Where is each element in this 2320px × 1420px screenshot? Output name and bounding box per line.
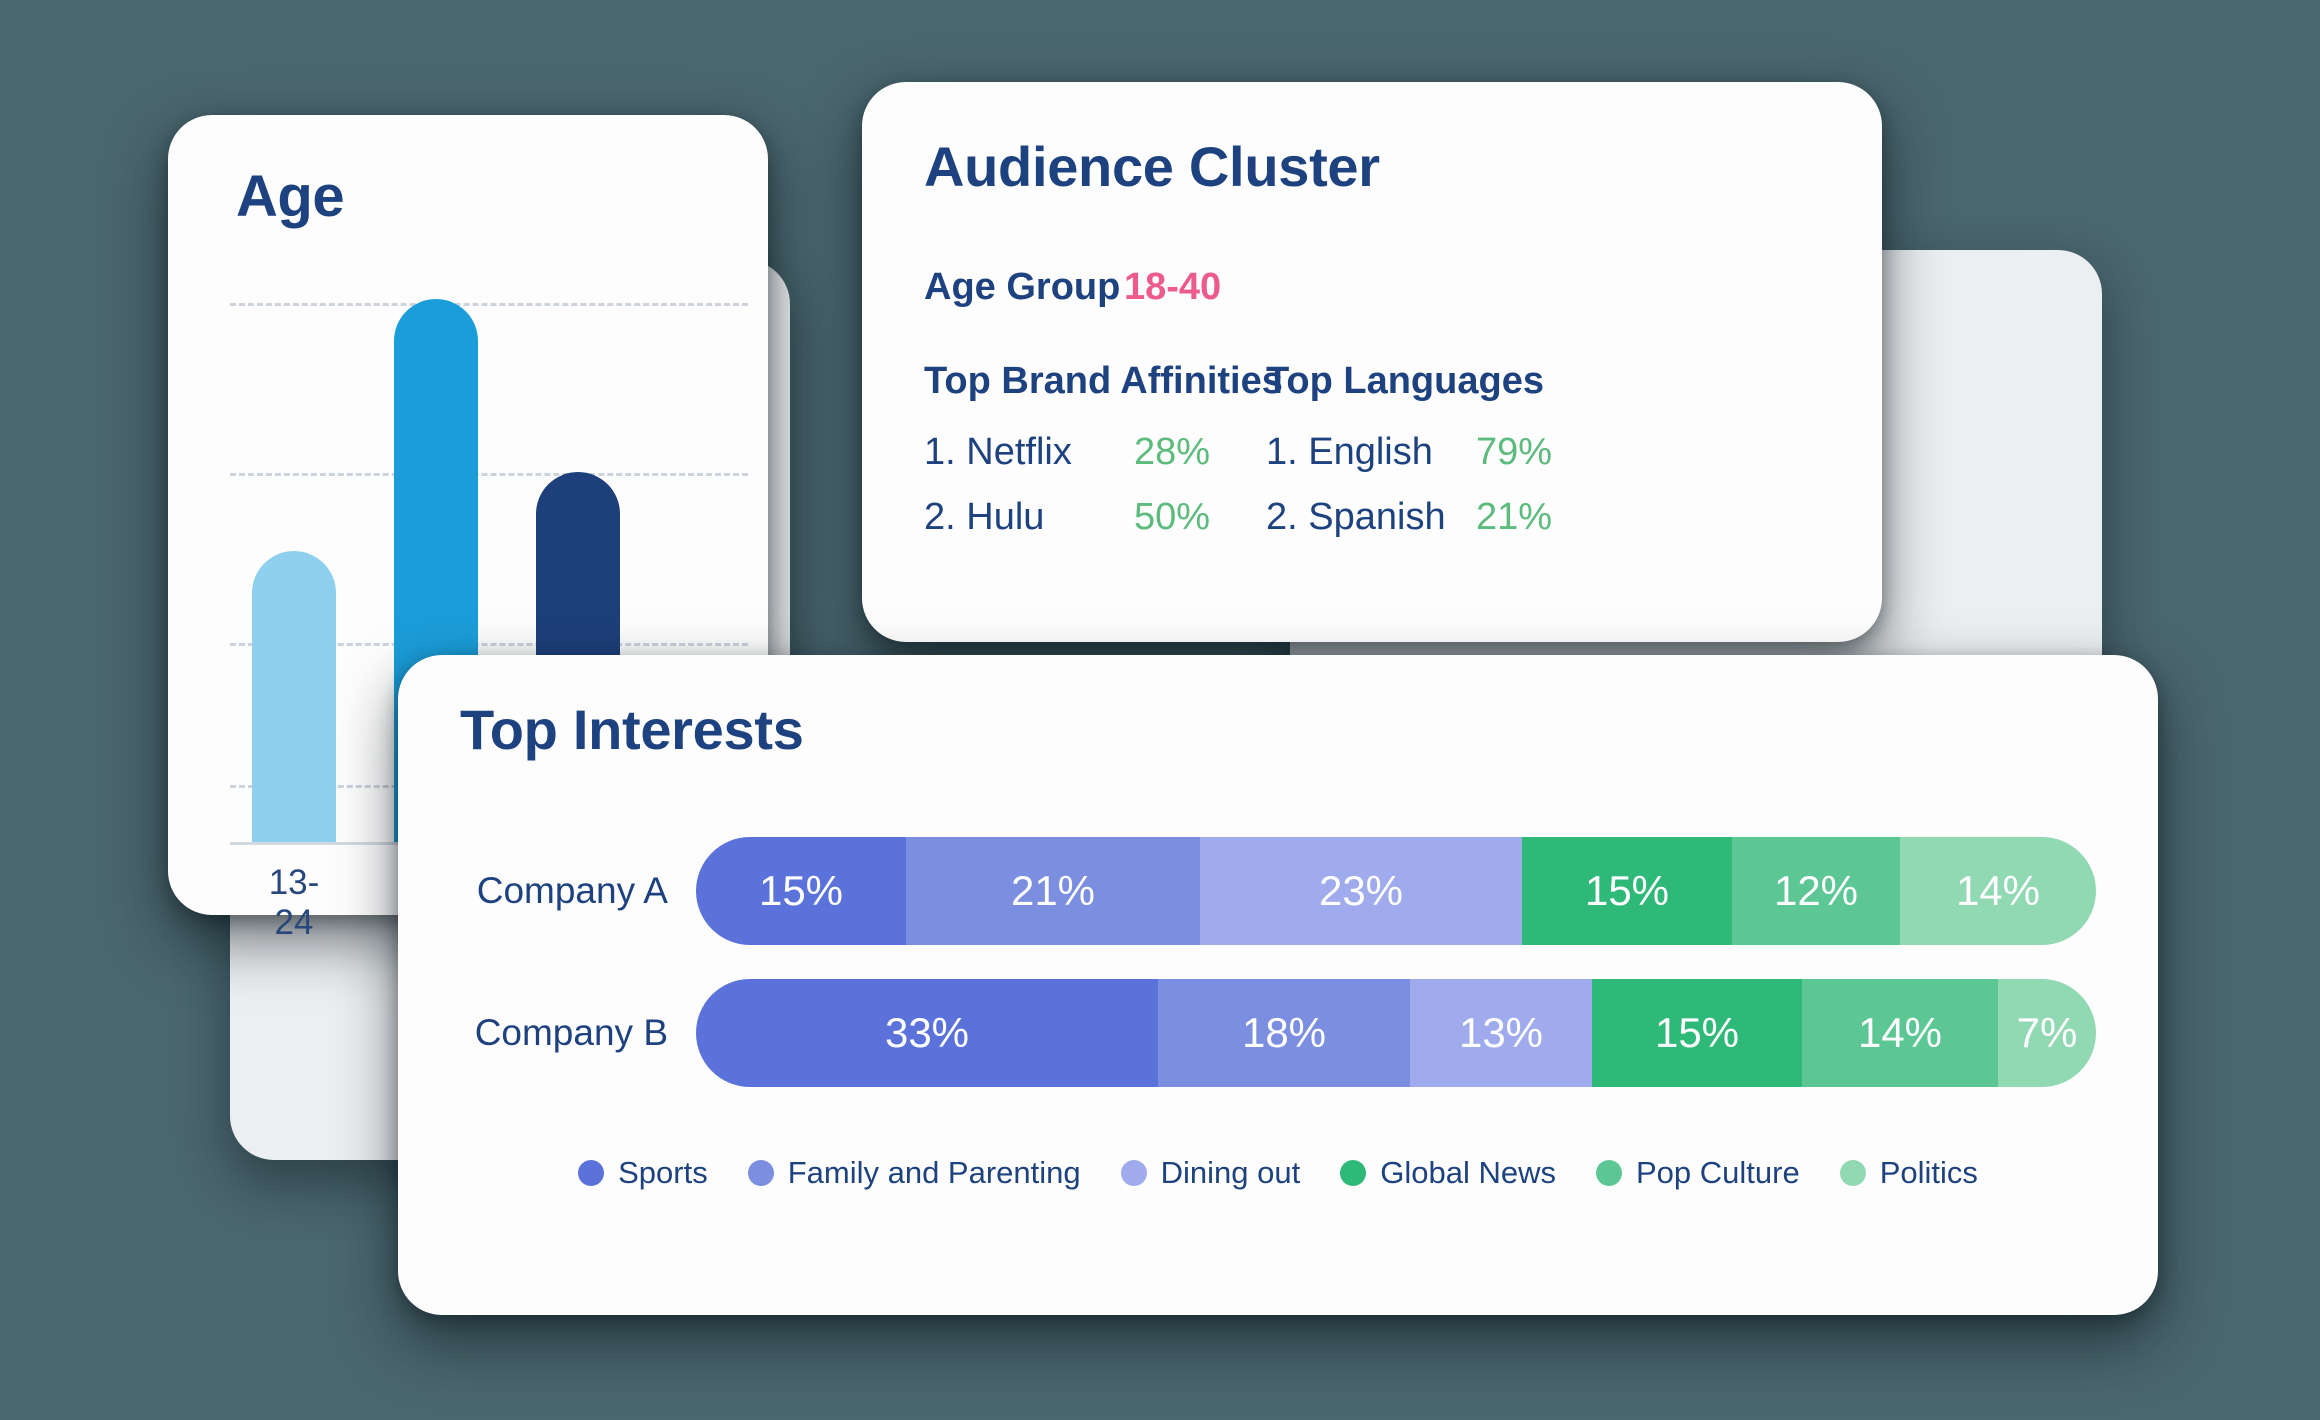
interest-segment[interactable]: 15% bbox=[1522, 837, 1732, 945]
brand-affinity-name: 1. Netflix bbox=[924, 431, 1134, 474]
legend-item[interactable]: Sports bbox=[578, 1155, 708, 1191]
legend-swatch-icon bbox=[1596, 1160, 1622, 1186]
legend-swatch-icon bbox=[1340, 1160, 1366, 1186]
language-item: 2. Spanish 21% bbox=[1266, 496, 1606, 539]
brand-affinities-heading: Top Brand Affinities bbox=[924, 360, 1266, 403]
language-item: 1. English 79% bbox=[1266, 431, 1606, 474]
interest-segment[interactable]: 7% bbox=[1998, 979, 2096, 1087]
interest-segment[interactable]: 13% bbox=[1410, 979, 1592, 1087]
interest-segment[interactable]: 21% bbox=[906, 837, 1200, 945]
interest-segment[interactable]: 18% bbox=[1158, 979, 1410, 1087]
age-group-row: Age Group 18-40 bbox=[924, 266, 1221, 309]
interest-row-label: Company B bbox=[398, 1012, 696, 1054]
interest-segment[interactable]: 15% bbox=[696, 837, 906, 945]
legend-swatch-icon bbox=[1121, 1160, 1147, 1186]
interest-row: Company A15%21%23%15%12%14% bbox=[398, 837, 2158, 945]
legend-label: Family and Parenting bbox=[788, 1155, 1081, 1191]
brand-affinity-item: 1. Netflix 28% bbox=[924, 431, 1266, 474]
interest-segment[interactable]: 14% bbox=[1802, 979, 1998, 1087]
legend-item[interactable]: Pop Culture bbox=[1596, 1155, 1800, 1191]
legend-label: Politics bbox=[1880, 1155, 1978, 1191]
age-group-value: 18-40 bbox=[1124, 266, 1221, 309]
legend-label: Global News bbox=[1380, 1155, 1556, 1191]
legend-swatch-icon bbox=[1840, 1160, 1866, 1186]
brand-affinities-column: Top Brand Affinities 1. Netflix 28% 2. H… bbox=[924, 360, 1266, 561]
legend-item[interactable]: Global News bbox=[1340, 1155, 1556, 1191]
language-pct: 21% bbox=[1476, 496, 1552, 539]
languages-heading: Top Languages bbox=[1266, 360, 1606, 403]
brand-affinity-item: 2. Hulu 50% bbox=[924, 496, 1266, 539]
interest-segment[interactable]: 15% bbox=[1592, 979, 1802, 1087]
audience-cluster-title: Audience Cluster bbox=[924, 134, 1380, 199]
interest-row-label: Company A bbox=[398, 870, 696, 912]
top-interests-card: Top Interests Company A15%21%23%15%12%14… bbox=[398, 655, 2158, 1315]
interest-segment[interactable]: 23% bbox=[1200, 837, 1522, 945]
language-name: 2. Spanish bbox=[1266, 496, 1476, 539]
age-axis-tick-label: 13-24 bbox=[252, 863, 336, 943]
age-card-title: Age bbox=[236, 163, 344, 230]
interest-segment[interactable]: 33% bbox=[696, 979, 1158, 1087]
interest-segment[interactable]: 14% bbox=[1900, 837, 2096, 945]
legend-label: Dining out bbox=[1161, 1155, 1301, 1191]
languages-column: Top Languages 1. English 79% 2. Spanish … bbox=[1266, 360, 1606, 561]
legend-swatch-icon bbox=[748, 1160, 774, 1186]
brand-affinity-pct: 28% bbox=[1134, 431, 1210, 474]
legend-label: Sports bbox=[618, 1155, 708, 1191]
interest-stacked-bar: 33%18%13%15%14%7% bbox=[696, 979, 2096, 1087]
top-interests-title: Top Interests bbox=[460, 697, 804, 762]
interest-stacked-bar: 15%21%23%15%12%14% bbox=[696, 837, 2096, 945]
top-interests-rows: Company A15%21%23%15%12%14%Company B33%1… bbox=[398, 837, 2158, 1121]
dashboard-canvas: Age 13-24 Audience Cluster Age Group 18-… bbox=[0, 0, 2320, 1420]
audience-cluster-card: Audience Cluster Age Group 18-40 Top Bra… bbox=[862, 82, 1882, 642]
age-bar[interactable] bbox=[252, 551, 336, 842]
brand-affinity-name: 2. Hulu bbox=[924, 496, 1134, 539]
legend-swatch-icon bbox=[578, 1160, 604, 1186]
age-group-label: Age Group bbox=[924, 266, 1124, 309]
language-name: 1. English bbox=[1266, 431, 1476, 474]
legend-item[interactable]: Politics bbox=[1840, 1155, 1978, 1191]
audience-columns: Top Brand Affinities 1. Netflix 28% 2. H… bbox=[924, 360, 1842, 561]
legend-item[interactable]: Family and Parenting bbox=[748, 1155, 1081, 1191]
top-interests-legend: SportsFamily and ParentingDining outGlob… bbox=[398, 1155, 2158, 1191]
language-pct: 79% bbox=[1476, 431, 1552, 474]
interest-row: Company B33%18%13%15%14%7% bbox=[398, 979, 2158, 1087]
brand-affinity-pct: 50% bbox=[1134, 496, 1210, 539]
legend-label: Pop Culture bbox=[1636, 1155, 1800, 1191]
legend-item[interactable]: Dining out bbox=[1121, 1155, 1301, 1191]
interest-segment[interactable]: 12% bbox=[1732, 837, 1900, 945]
